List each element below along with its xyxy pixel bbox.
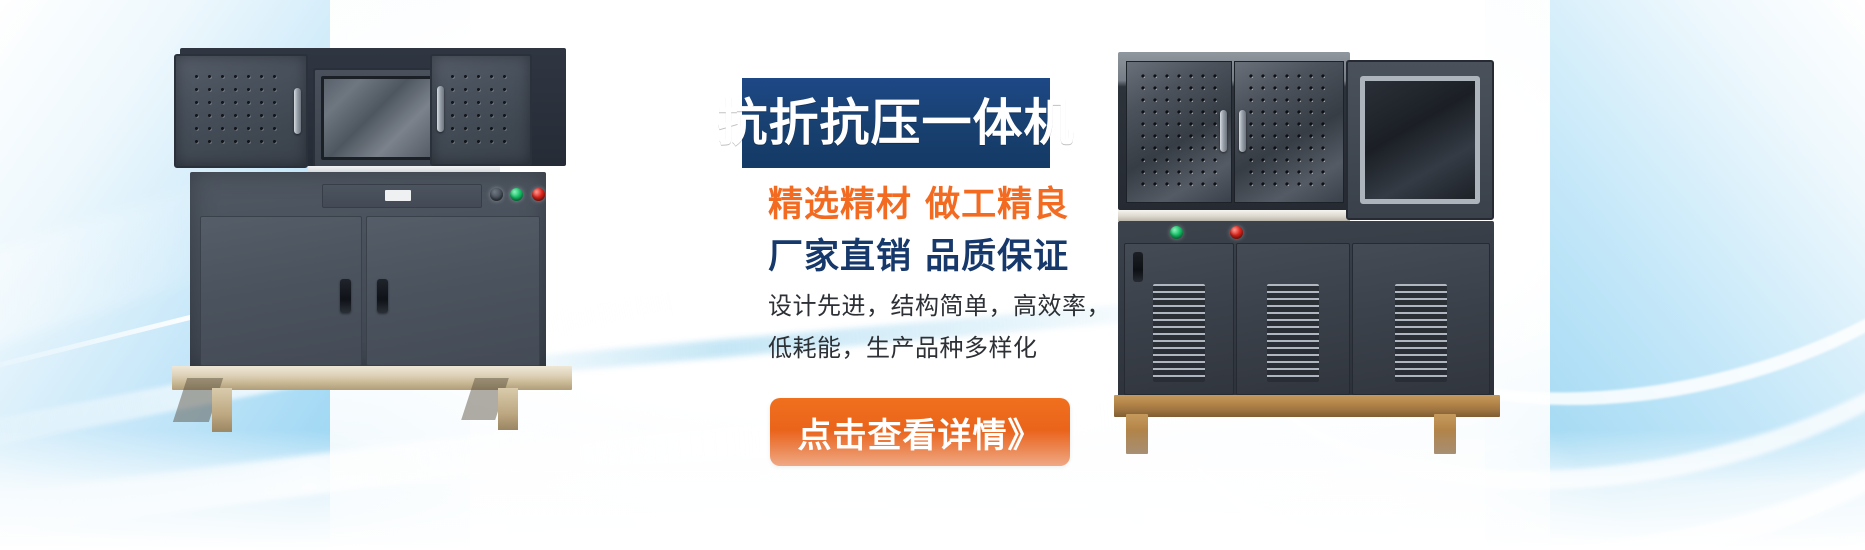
left-machine-indicator-lamp-green xyxy=(510,188,523,201)
door-handle-icon xyxy=(377,279,388,313)
right-machine-indicator-lamp-red xyxy=(1230,226,1243,239)
left-machine-pallet-leg-2 xyxy=(498,388,518,430)
left-machine-perforated-door-right xyxy=(430,54,532,166)
right-machine-lower-door-1 xyxy=(1124,243,1234,395)
ventilation-louvers-icon xyxy=(1267,284,1319,382)
ventilation-louvers-icon xyxy=(1153,284,1205,382)
door-handle-icon xyxy=(1133,252,1143,282)
left-machine-pallet xyxy=(172,366,572,390)
product-image-left xyxy=(168,48,578,413)
left-machine-indicator-lamp-red xyxy=(532,188,545,201)
right-machine-monitor-housing xyxy=(1346,60,1494,220)
perforation-pattern xyxy=(190,70,286,152)
background-bottom-fade xyxy=(0,430,1865,550)
promo-banner: 抗折抗压一体机 精选精材 做工精良 厂家直销 品质保证 设计先进，结构简单，高效… xyxy=(0,0,1865,550)
door-handle-icon xyxy=(1220,110,1227,152)
right-machine-indicator-lamp-green xyxy=(1170,226,1183,239)
right-machine-lower-door-2 xyxy=(1236,243,1350,395)
perforation-pattern xyxy=(1245,70,1333,194)
right-machine-white-strip xyxy=(1118,210,1350,221)
right-machine-perforated-door-right xyxy=(1234,61,1344,203)
perforation-pattern xyxy=(446,70,510,150)
door-handle-icon xyxy=(1239,110,1246,152)
description-line-1: 设计先进，结构简单，高效率， xyxy=(768,286,1111,321)
right-machine-lower-door-3 xyxy=(1352,243,1490,395)
door-handle-icon xyxy=(294,88,301,134)
left-machine-control-drawer xyxy=(322,184,482,208)
left-machine-lower-door-right xyxy=(366,216,540,366)
perforation-pattern xyxy=(1137,70,1221,194)
right-machine-perforated-door-left xyxy=(1126,61,1232,203)
left-machine-cabinet xyxy=(190,172,546,370)
left-machine-drawer-label xyxy=(385,190,411,201)
right-machine-cabinet xyxy=(1118,221,1494,399)
left-machine-indicator-lamp-dark xyxy=(490,188,503,201)
door-handle-icon xyxy=(437,86,444,132)
headline-text: 抗折抗压一体机 xyxy=(718,98,1075,148)
headline-banner: 抗折抗压一体机 xyxy=(742,78,1050,168)
product-image-right xyxy=(1118,52,1493,412)
right-machine-screen xyxy=(1360,76,1480,204)
right-machine-upper-cabinet xyxy=(1118,52,1350,210)
left-machine-lower-door-left xyxy=(200,216,362,366)
door-handle-icon xyxy=(340,279,351,313)
left-machine-screen xyxy=(321,76,435,160)
subtitle-navy: 厂家直销 品质保证 xyxy=(768,228,1069,279)
ventilation-louvers-icon xyxy=(1395,284,1447,382)
subtitle-orange: 精选精材 做工精良 xyxy=(768,176,1069,227)
left-machine-perforated-door-left xyxy=(174,54,308,168)
left-machine-pallet-leg-1 xyxy=(212,388,232,432)
description-line-2: 低耗能，生产品种多样化 xyxy=(768,328,1038,363)
left-machine-monitor-housing xyxy=(313,68,443,168)
